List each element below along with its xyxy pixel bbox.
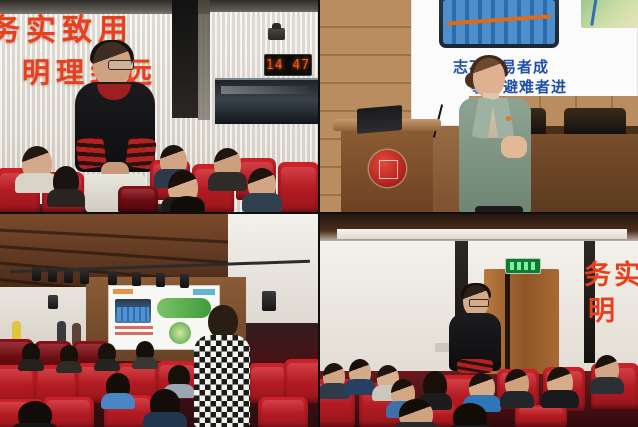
audience-member — [150, 389, 180, 419]
wall-speaker — [48, 295, 58, 309]
audience-member — [547, 367, 573, 397]
slide-caption-text — [115, 326, 153, 338]
slide-logo-icon — [193, 289, 215, 295]
torso — [101, 393, 136, 409]
foreground-man-checkered — [194, 305, 250, 427]
lectern — [341, 128, 433, 213]
panel-divider-horizontal — [0, 212, 638, 214]
head — [208, 305, 238, 339]
torso — [541, 390, 578, 408]
torso — [18, 359, 44, 371]
glass-window — [215, 78, 319, 124]
audience-member — [214, 148, 241, 179]
audience-member — [18, 401, 52, 427]
stage-light — [156, 273, 165, 287]
photo-collage: 务实致用 明理致远 14 47 — [0, 0, 638, 427]
university-seal-icon — [369, 150, 406, 187]
speaker-hands — [501, 136, 527, 158]
panel-bottom-left — [0, 213, 319, 427]
team-photo — [439, 0, 559, 48]
ceiling-light-band — [337, 229, 627, 239]
audience-member — [505, 369, 529, 397]
glasses-icon — [108, 60, 134, 70]
slide-header-bar — [113, 289, 133, 294]
panel-bottom-right: 务实 明 — [319, 213, 638, 427]
wall-slogan-line1: 务实 — [584, 257, 638, 293]
wall-speaker — [262, 291, 276, 311]
audience-member — [469, 373, 495, 401]
torso — [590, 377, 625, 394]
torso — [94, 359, 120, 371]
audience-member — [98, 343, 116, 363]
audience-member — [248, 168, 276, 200]
audience-member — [168, 365, 190, 389]
audience-member — [453, 403, 487, 427]
torso — [47, 189, 84, 207]
stage-light — [80, 270, 89, 284]
panel-top-left: 务实致用 明理致远 14 47 — [0, 0, 319, 213]
torso — [132, 357, 158, 369]
exit-sign-icon — [505, 258, 541, 274]
audience-member — [323, 363, 345, 389]
stage-light — [108, 271, 117, 285]
standing-student — [449, 285, 501, 380]
slide-green-circle — [169, 322, 191, 344]
wall-slogan-line2: 明 — [584, 293, 638, 329]
audience-member — [399, 399, 433, 427]
audience-member — [22, 146, 52, 180]
audience-member — [22, 343, 40, 363]
torso — [56, 361, 82, 373]
audience-member — [53, 166, 79, 196]
torso — [208, 172, 247, 191]
clock-time: 14 47 — [266, 58, 310, 73]
head — [170, 196, 204, 213]
checkered-shirt — [194, 335, 250, 427]
stage-light — [64, 269, 73, 283]
digital-clock: 14 47 — [264, 54, 312, 76]
lapel-pin-icon — [506, 116, 511, 121]
audience-member — [136, 341, 154, 361]
torso — [392, 422, 441, 427]
panel-top-right: 志不求易者成 事不避难者进 — [319, 0, 638, 213]
stage-light — [180, 274, 189, 288]
torso — [242, 193, 282, 212]
camera-mount — [268, 28, 285, 40]
torso — [344, 379, 376, 395]
slide-team-photo — [115, 299, 151, 323]
audience-member — [349, 359, 371, 385]
speaker — [457, 58, 545, 149]
glasses-icon — [469, 299, 489, 307]
map-graphic — [581, 0, 638, 28]
audience-member — [423, 371, 447, 399]
audience-member — [60, 345, 78, 365]
torso — [143, 412, 186, 427]
torso — [11, 423, 60, 427]
seat — [258, 397, 308, 427]
head — [453, 403, 487, 427]
audience-member — [170, 196, 204, 213]
door-gap — [505, 271, 510, 374]
laptop-icon — [357, 105, 402, 134]
audience-member — [595, 355, 619, 383]
dark-column — [172, 0, 198, 118]
speaker-head — [473, 58, 505, 98]
stage-light — [48, 268, 57, 282]
stage-light — [32, 267, 41, 281]
torso — [500, 391, 535, 408]
desk-monitor-2 — [564, 108, 626, 134]
stage-light — [132, 272, 141, 286]
audience-member — [106, 373, 130, 399]
seat — [278, 162, 319, 213]
student-cuff — [457, 359, 493, 373]
column-edge — [198, 0, 210, 120]
seat — [515, 405, 567, 427]
wall-slogan: 务实 明 — [584, 257, 638, 329]
seat — [118, 186, 158, 213]
